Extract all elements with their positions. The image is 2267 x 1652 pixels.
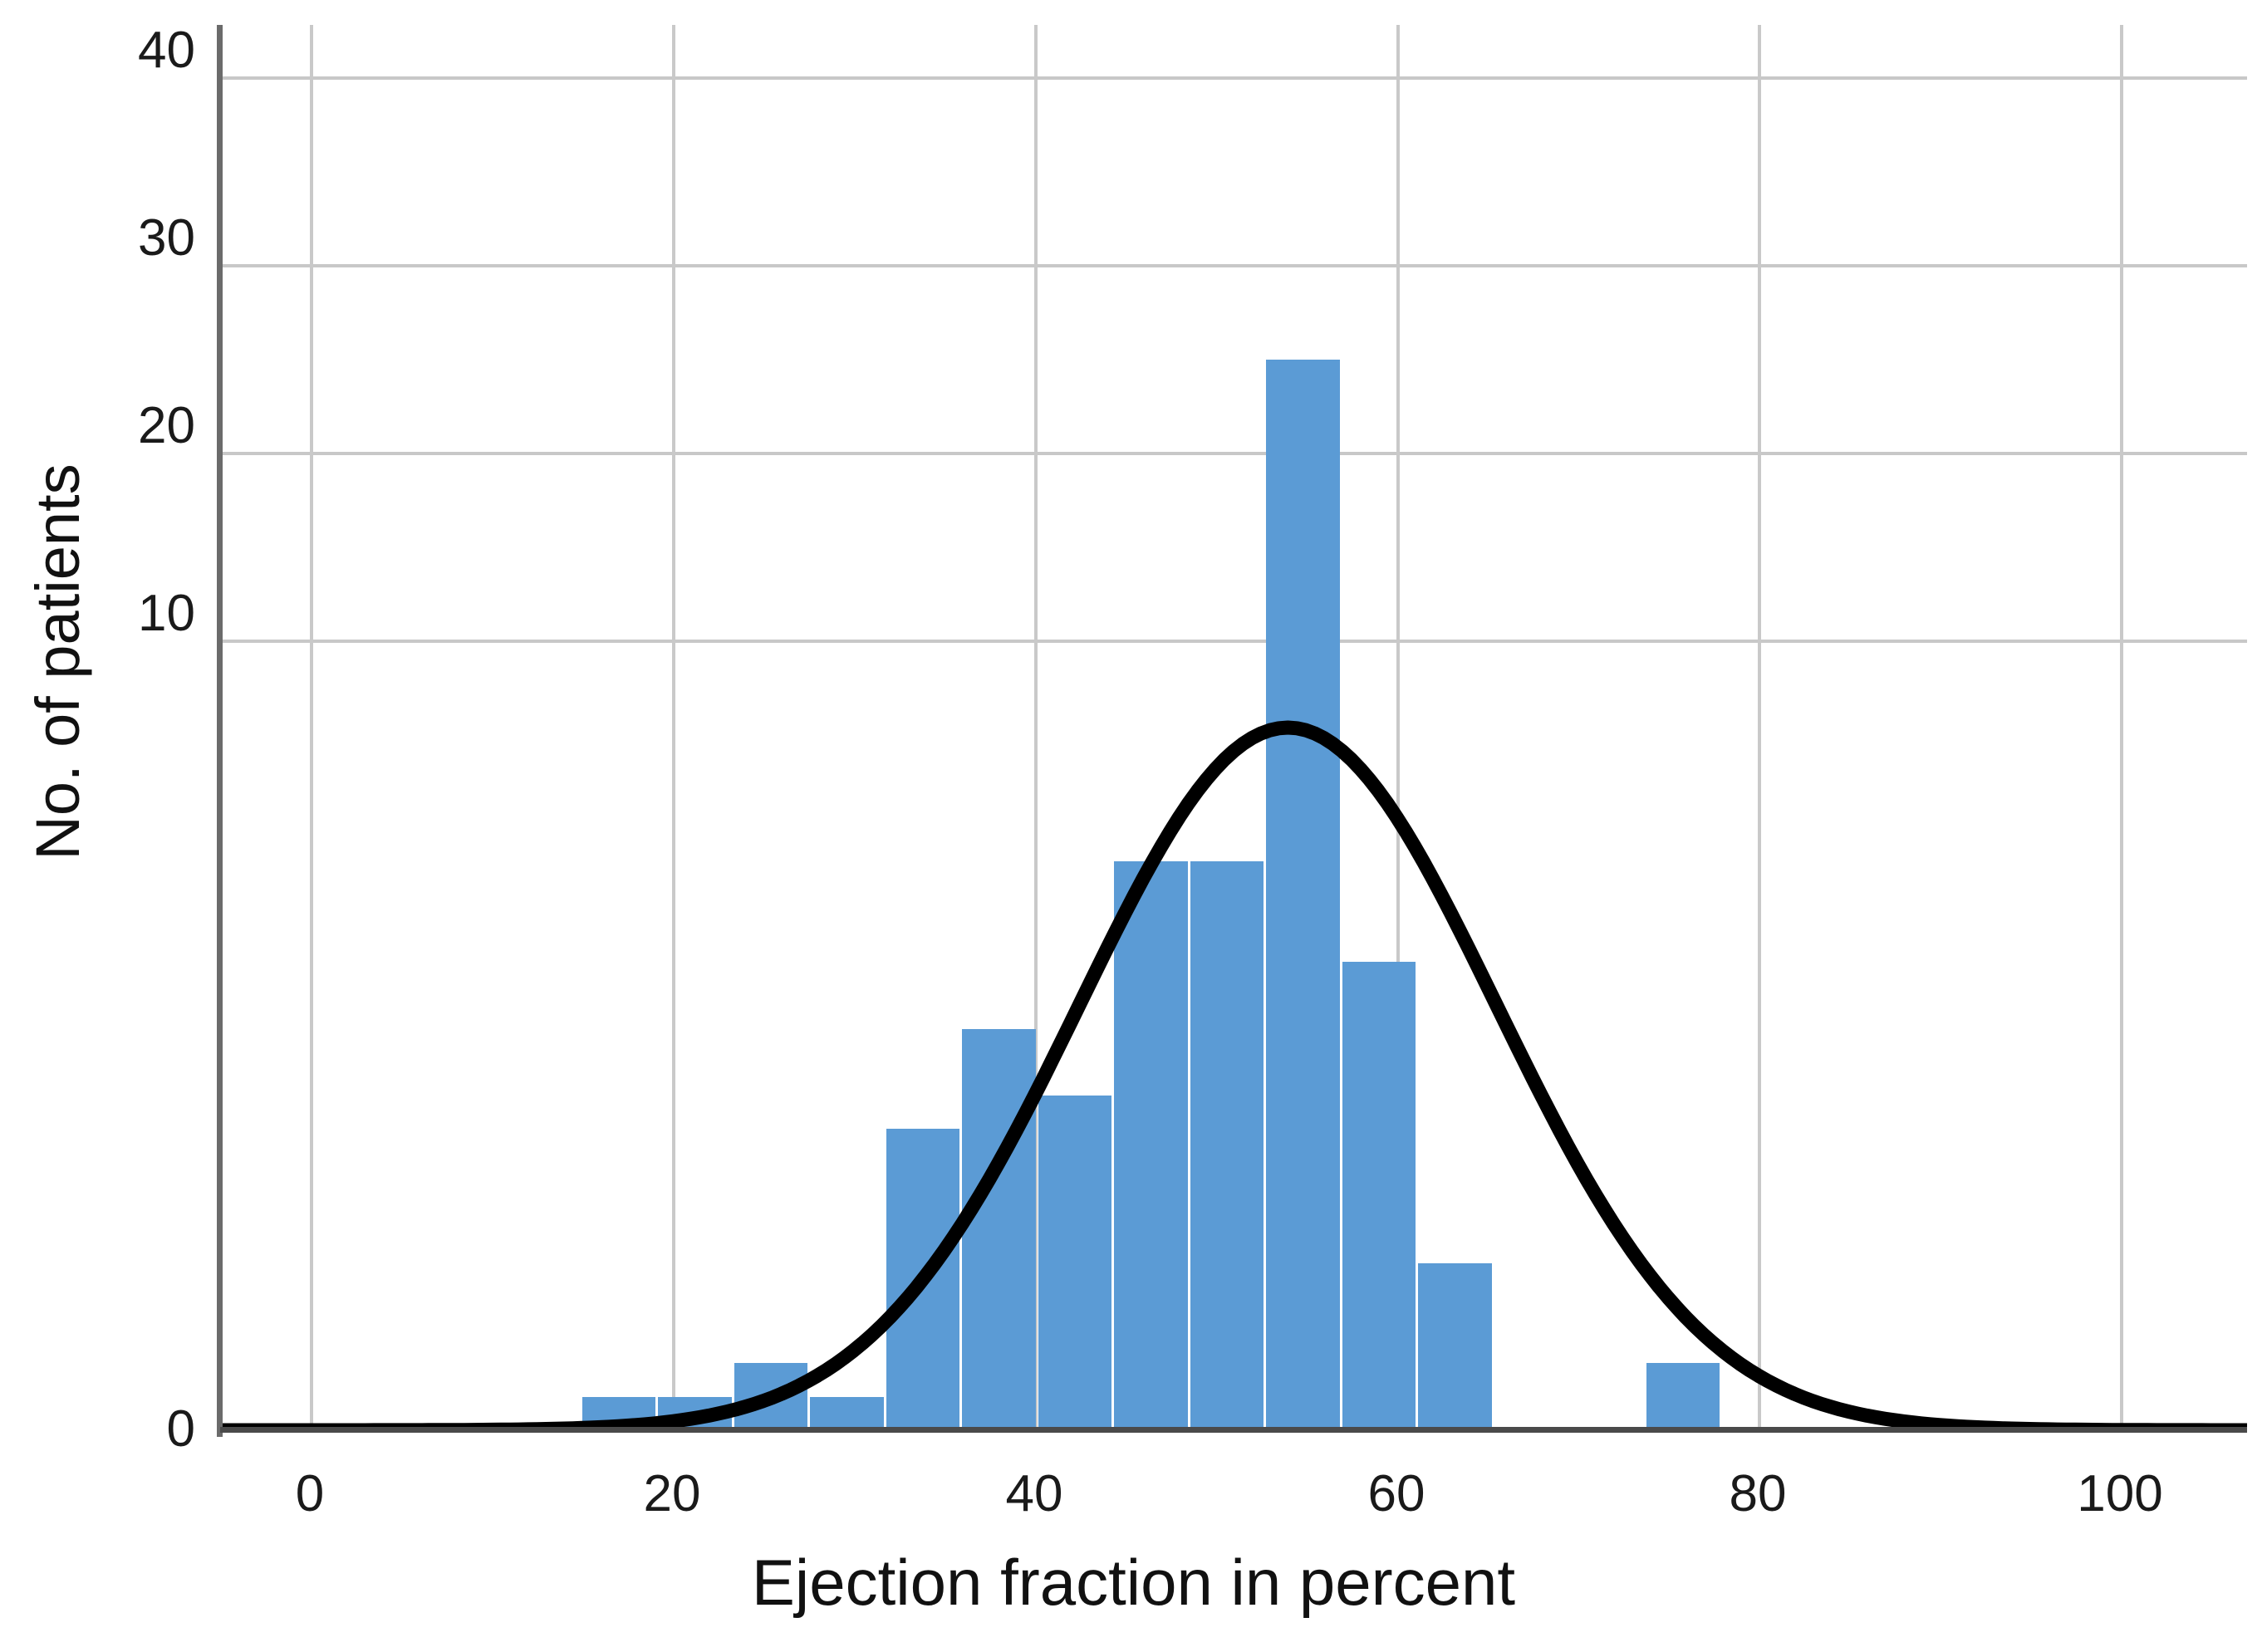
y-tick-label-10: 10 — [87, 588, 195, 640]
histogram-bar — [1038, 1096, 1112, 1430]
histogram-bar — [1418, 1263, 1492, 1430]
y-axis-spine — [217, 25, 223, 1437]
histogram-bar — [1646, 1363, 1720, 1430]
x-axis-spine — [220, 1427, 2247, 1433]
histogram-bar — [1266, 360, 1340, 1430]
y-tick-label-40: 40 — [87, 25, 195, 76]
histogram-bar — [582, 1397, 656, 1430]
histogram-bar — [734, 1363, 808, 1430]
histogram-bar — [1190, 861, 1264, 1430]
x-tick-label-100: 100 — [2045, 1468, 2195, 1520]
y-tick-label-20: 20 — [87, 400, 195, 452]
y-tick-label-30: 30 — [87, 213, 195, 264]
x-tick-label-20: 20 — [597, 1468, 747, 1520]
y-axis-title: No. of patients — [27, 330, 89, 994]
histogram-bar — [658, 1397, 732, 1430]
bar-series — [220, 25, 2247, 1430]
x-tick-label-60: 60 — [1322, 1468, 1471, 1520]
histogram-bar — [810, 1397, 884, 1430]
x-tick-label-40: 40 — [959, 1468, 1109, 1520]
histogram-figure: 40 30 20 10 0 0 20 40 60 80 100 No. of p… — [0, 0, 2267, 1652]
histogram-bar — [886, 1129, 960, 1430]
x-tick-label-80: 80 — [1683, 1468, 1833, 1520]
y-tick-label-0: 0 — [87, 1404, 195, 1455]
histogram-bar — [1114, 861, 1188, 1430]
x-axis-title: Ejection fraction in percent — [0, 1550, 2267, 1615]
x-tick-label-0: 0 — [235, 1468, 385, 1520]
histogram-bar — [1342, 962, 1416, 1430]
histogram-bar — [962, 1029, 1036, 1430]
